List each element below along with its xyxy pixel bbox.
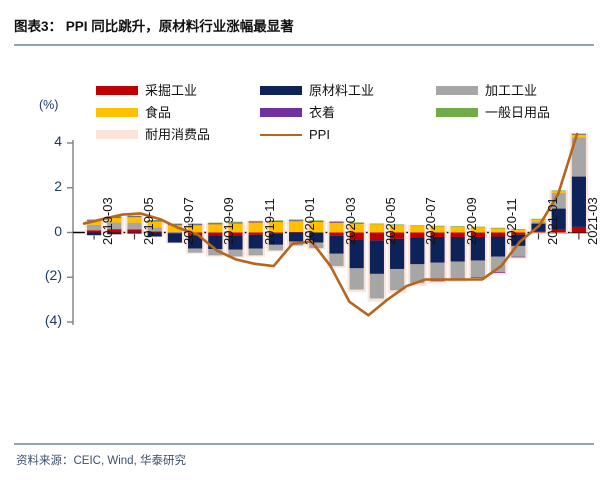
y-tick-label: 4 [28, 133, 62, 149]
y-tick-label: 2 [28, 178, 62, 194]
x-tick-label: 2019-07 [181, 197, 196, 245]
chart-figure: 图表3： PPI 同比跳升，原材料行业涨幅最显著 采掘工业 原材料工业 加工工业… [0, 0, 608, 489]
x-tick-label: 2020-11 [504, 198, 519, 245]
x-tick-label: 2021-01 [545, 197, 560, 245]
x-tick-label: 2019-09 [221, 197, 236, 245]
x-tick-label: 2020-05 [383, 197, 398, 245]
x-tick-label: 2020-09 [464, 197, 479, 245]
x-tick-label: 2019-03 [100, 197, 115, 245]
source-note: 资料来源：CEIC, Wind, 华泰研究 [16, 452, 186, 468]
x-tick-label: 2020-03 [343, 197, 358, 245]
x-tick-label: 2019-05 [141, 197, 156, 245]
x-tick-label: 2019-11 [262, 198, 277, 245]
plot-area: 420(2)(4) 2019-032019-052019-072019-0920… [0, 0, 608, 489]
y-tick-label: 0 [28, 223, 62, 239]
y-tick-label: (2) [28, 267, 62, 283]
x-tick-label: 2021-03 [585, 197, 600, 245]
footer-divider [14, 443, 594, 445]
y-tick-label: (4) [28, 312, 62, 328]
x-tick-label: 2020-01 [302, 197, 317, 245]
x-tick-label: 2020-07 [423, 197, 438, 245]
